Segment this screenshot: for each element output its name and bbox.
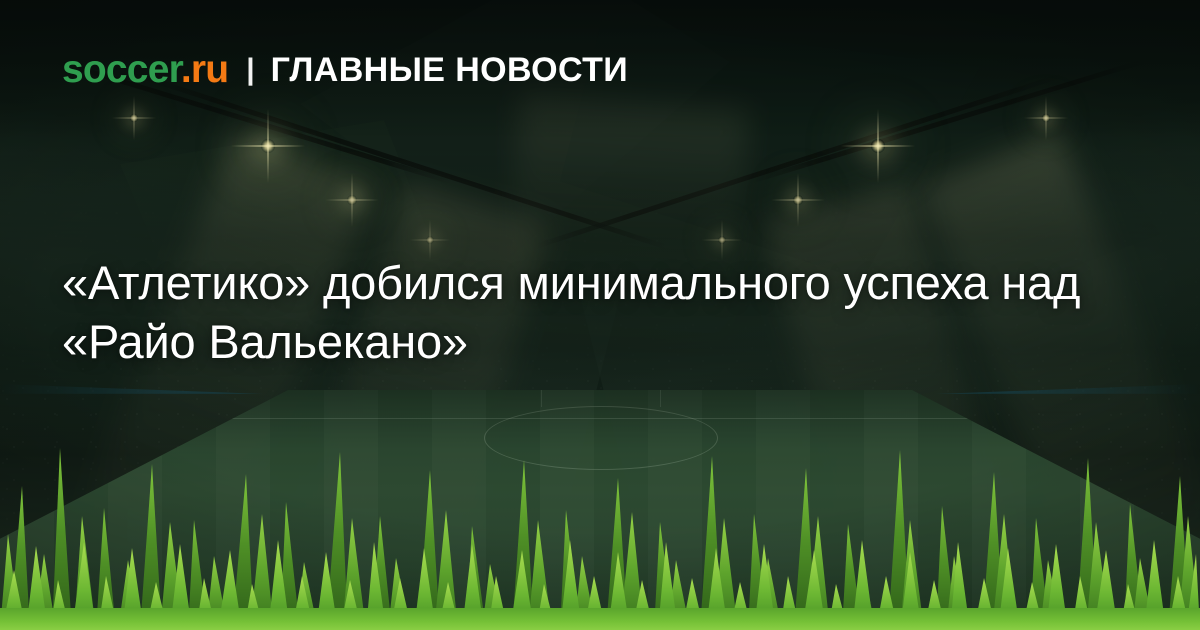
logo-primary-text: soccer [62, 48, 181, 91]
news-share-card: soccer.ru | ГЛАВНЫЕ НОВОСТИ «Атлетико» д… [0, 0, 1200, 630]
foreground-grass [0, 430, 1200, 630]
article-headline: «Атлетико» добился минимального успеха н… [62, 253, 1122, 371]
site-header: soccer.ru | ГЛАВНЫЕ НОВОСТИ [62, 50, 628, 89]
section-title: ГЛАВНЫЕ НОВОСТИ [271, 53, 628, 87]
logo-suffix-text: .ru [181, 48, 228, 91]
header-divider: | [246, 55, 254, 85]
soccer-ru-logo[interactable]: soccer.ru [62, 50, 228, 89]
